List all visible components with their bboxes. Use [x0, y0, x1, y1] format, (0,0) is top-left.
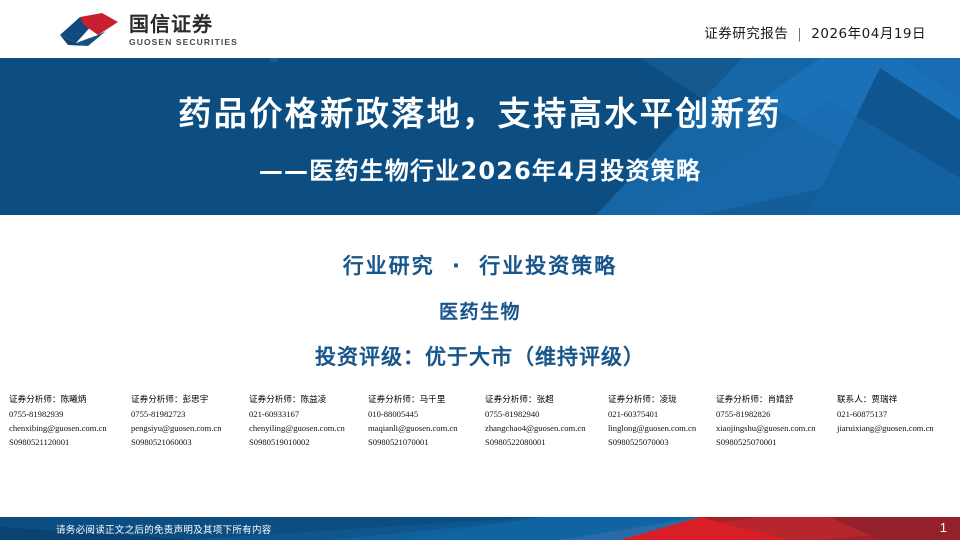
analyst-name: 张超 — [537, 395, 554, 405]
analyst-phone: 021-60375401 — [608, 408, 716, 422]
category-line: 行业研究 · 行业投资策略 — [0, 250, 960, 280]
analyst-email[interactable]: pengsiyu@guosen.com.cn — [131, 422, 249, 436]
logo-text-en: GUOSEN SECURITIES — [129, 37, 238, 47]
analyst-phone: 010-88005445 — [368, 408, 485, 422]
analyst-name: 凌珑 — [660, 395, 677, 405]
analyst-license: S0980525070003 — [608, 436, 716, 450]
analyst-name: 陈曦炳 — [61, 395, 87, 405]
contact-phone: 021-60875137 — [837, 408, 934, 422]
contact-email[interactable]: jiaruixiang@guosen.com.cn — [837, 422, 934, 436]
analyst-role: 证券分析师： — [368, 395, 420, 405]
analyst-phone: 0755-81982826 — [716, 408, 837, 422]
analyst-email[interactable]: chenyiling@guosen.com.cn — [249, 422, 368, 436]
company-logo: 国信证券 GUOSEN SECURITIES — [58, 13, 238, 47]
analyst-entry: 证券分析师：陈曦炳 0755-81982939 chenxibing@guose… — [9, 394, 131, 474]
analyst-entry: 证券分析师：彭思宇 0755-81982723 pengsiyu@guosen.… — [131, 394, 249, 474]
analyst-phone: 0755-81982723 — [131, 408, 249, 422]
analyst-role: 证券分析师： — [131, 395, 183, 405]
analyst-role: 证券分析师： — [485, 395, 537, 405]
report-subtitle: ——医药生物行业2026年4月投资策略 — [0, 151, 960, 186]
page-number: 1 — [940, 520, 947, 535]
contact-entry: 联系人：贾瑞祥 021-60875137 jiaruixiang@guosen.… — [837, 394, 934, 474]
analyst-entry: 证券分析师：张超 0755-81982940 zhangchao4@guosen… — [485, 394, 608, 474]
page-footer: 请务必阅读正文之后的免责声明及其项下所有内容 1 — [0, 517, 960, 540]
analyst-email[interactable]: linglong@guosen.com.cn — [608, 422, 716, 436]
analyst-license: S0980521120001 — [9, 436, 131, 450]
analyst-email[interactable]: zhangchao4@guosen.com.cn — [485, 422, 608, 436]
analyst-role: 证券分析师： — [9, 395, 61, 405]
analyst-license: S0980525070001 — [716, 436, 837, 450]
category-dot: · — [444, 254, 470, 278]
analyst-list: 证券分析师：陈曦炳 0755-81982939 chenxibing@guose… — [0, 394, 960, 474]
analyst-email[interactable]: xiaojingshu@guosen.com.cn — [716, 422, 837, 436]
footer-disclaimer: 请务必阅读正文之后的免责声明及其项下所有内容 — [56, 522, 272, 536]
analyst-phone: 0755-81982940 — [485, 408, 608, 422]
investment-rating: 投资评级：优于大市（维持评级） — [0, 341, 960, 371]
analyst-entry: 证券分析师：马千里 010-88005445 maqianli@guosen.c… — [368, 394, 485, 474]
analyst-name: 马千里 — [420, 395, 446, 405]
category-left: 行业研究 — [343, 254, 435, 278]
analyst-license: S0980522080001 — [485, 436, 608, 450]
page-header: 国信证券 GUOSEN SECURITIES 证券研究报告 | 2026年04月… — [0, 0, 960, 58]
analyst-name: 肖婧舒 — [768, 395, 794, 405]
header-separator: | — [797, 26, 802, 42]
analyst-phone: 0755-81982939 — [9, 408, 131, 422]
analyst-role: 证券分析师： — [716, 395, 768, 405]
report-meta-block: 行业研究 · 行业投资策略 医药生物 投资评级：优于大市（维持评级） — [0, 215, 960, 390]
analyst-license: S0980519010002 — [249, 436, 368, 450]
report-type-label: 证券研究报告 — [704, 22, 788, 42]
industry-label: 医药生物 — [0, 297, 960, 324]
analyst-entry: 证券分析师：陈益凌 021-60933167 chenyiling@guosen… — [249, 394, 368, 474]
banner-decoration — [0, 58, 960, 215]
analyst-email[interactable]: maqianli@guosen.com.cn — [368, 422, 485, 436]
logo-text-cn: 国信证券 — [129, 14, 238, 35]
analyst-license: S0980521070001 — [368, 436, 485, 450]
header-meta: 证券研究报告 | 2026年04月19日 — [704, 22, 926, 42]
analyst-phone: 021-60933167 — [249, 408, 368, 422]
analyst-role: 证券分析师： — [249, 395, 301, 405]
title-banner: 药品价格新政落地，支持高水平创新药 ——医药生物行业2026年4月投资策略 — [0, 58, 960, 215]
analyst-name: 彭思宇 — [183, 395, 209, 405]
analyst-license: S0980521060003 — [131, 436, 249, 450]
report-date: 2026年04月19日 — [811, 22, 926, 42]
contact-role: 联系人： — [837, 395, 871, 405]
contact-name: 贾瑞祥 — [871, 395, 897, 405]
category-right: 行业投资策略 — [479, 254, 617, 278]
guosen-logo-icon — [58, 13, 120, 47]
analyst-email[interactable]: chenxibing@guosen.com.cn — [9, 422, 131, 436]
analyst-role: 证券分析师： — [608, 395, 660, 405]
analyst-entry: 证券分析师：肖婧舒 0755-81982826 xiaojingshu@guos… — [716, 394, 837, 474]
analyst-entry: 证券分析师：凌珑 021-60375401 linglong@guosen.co… — [608, 394, 716, 474]
analyst-name: 陈益凌 — [301, 395, 327, 405]
report-title: 药品价格新政落地，支持高水平创新药 — [0, 87, 960, 135]
